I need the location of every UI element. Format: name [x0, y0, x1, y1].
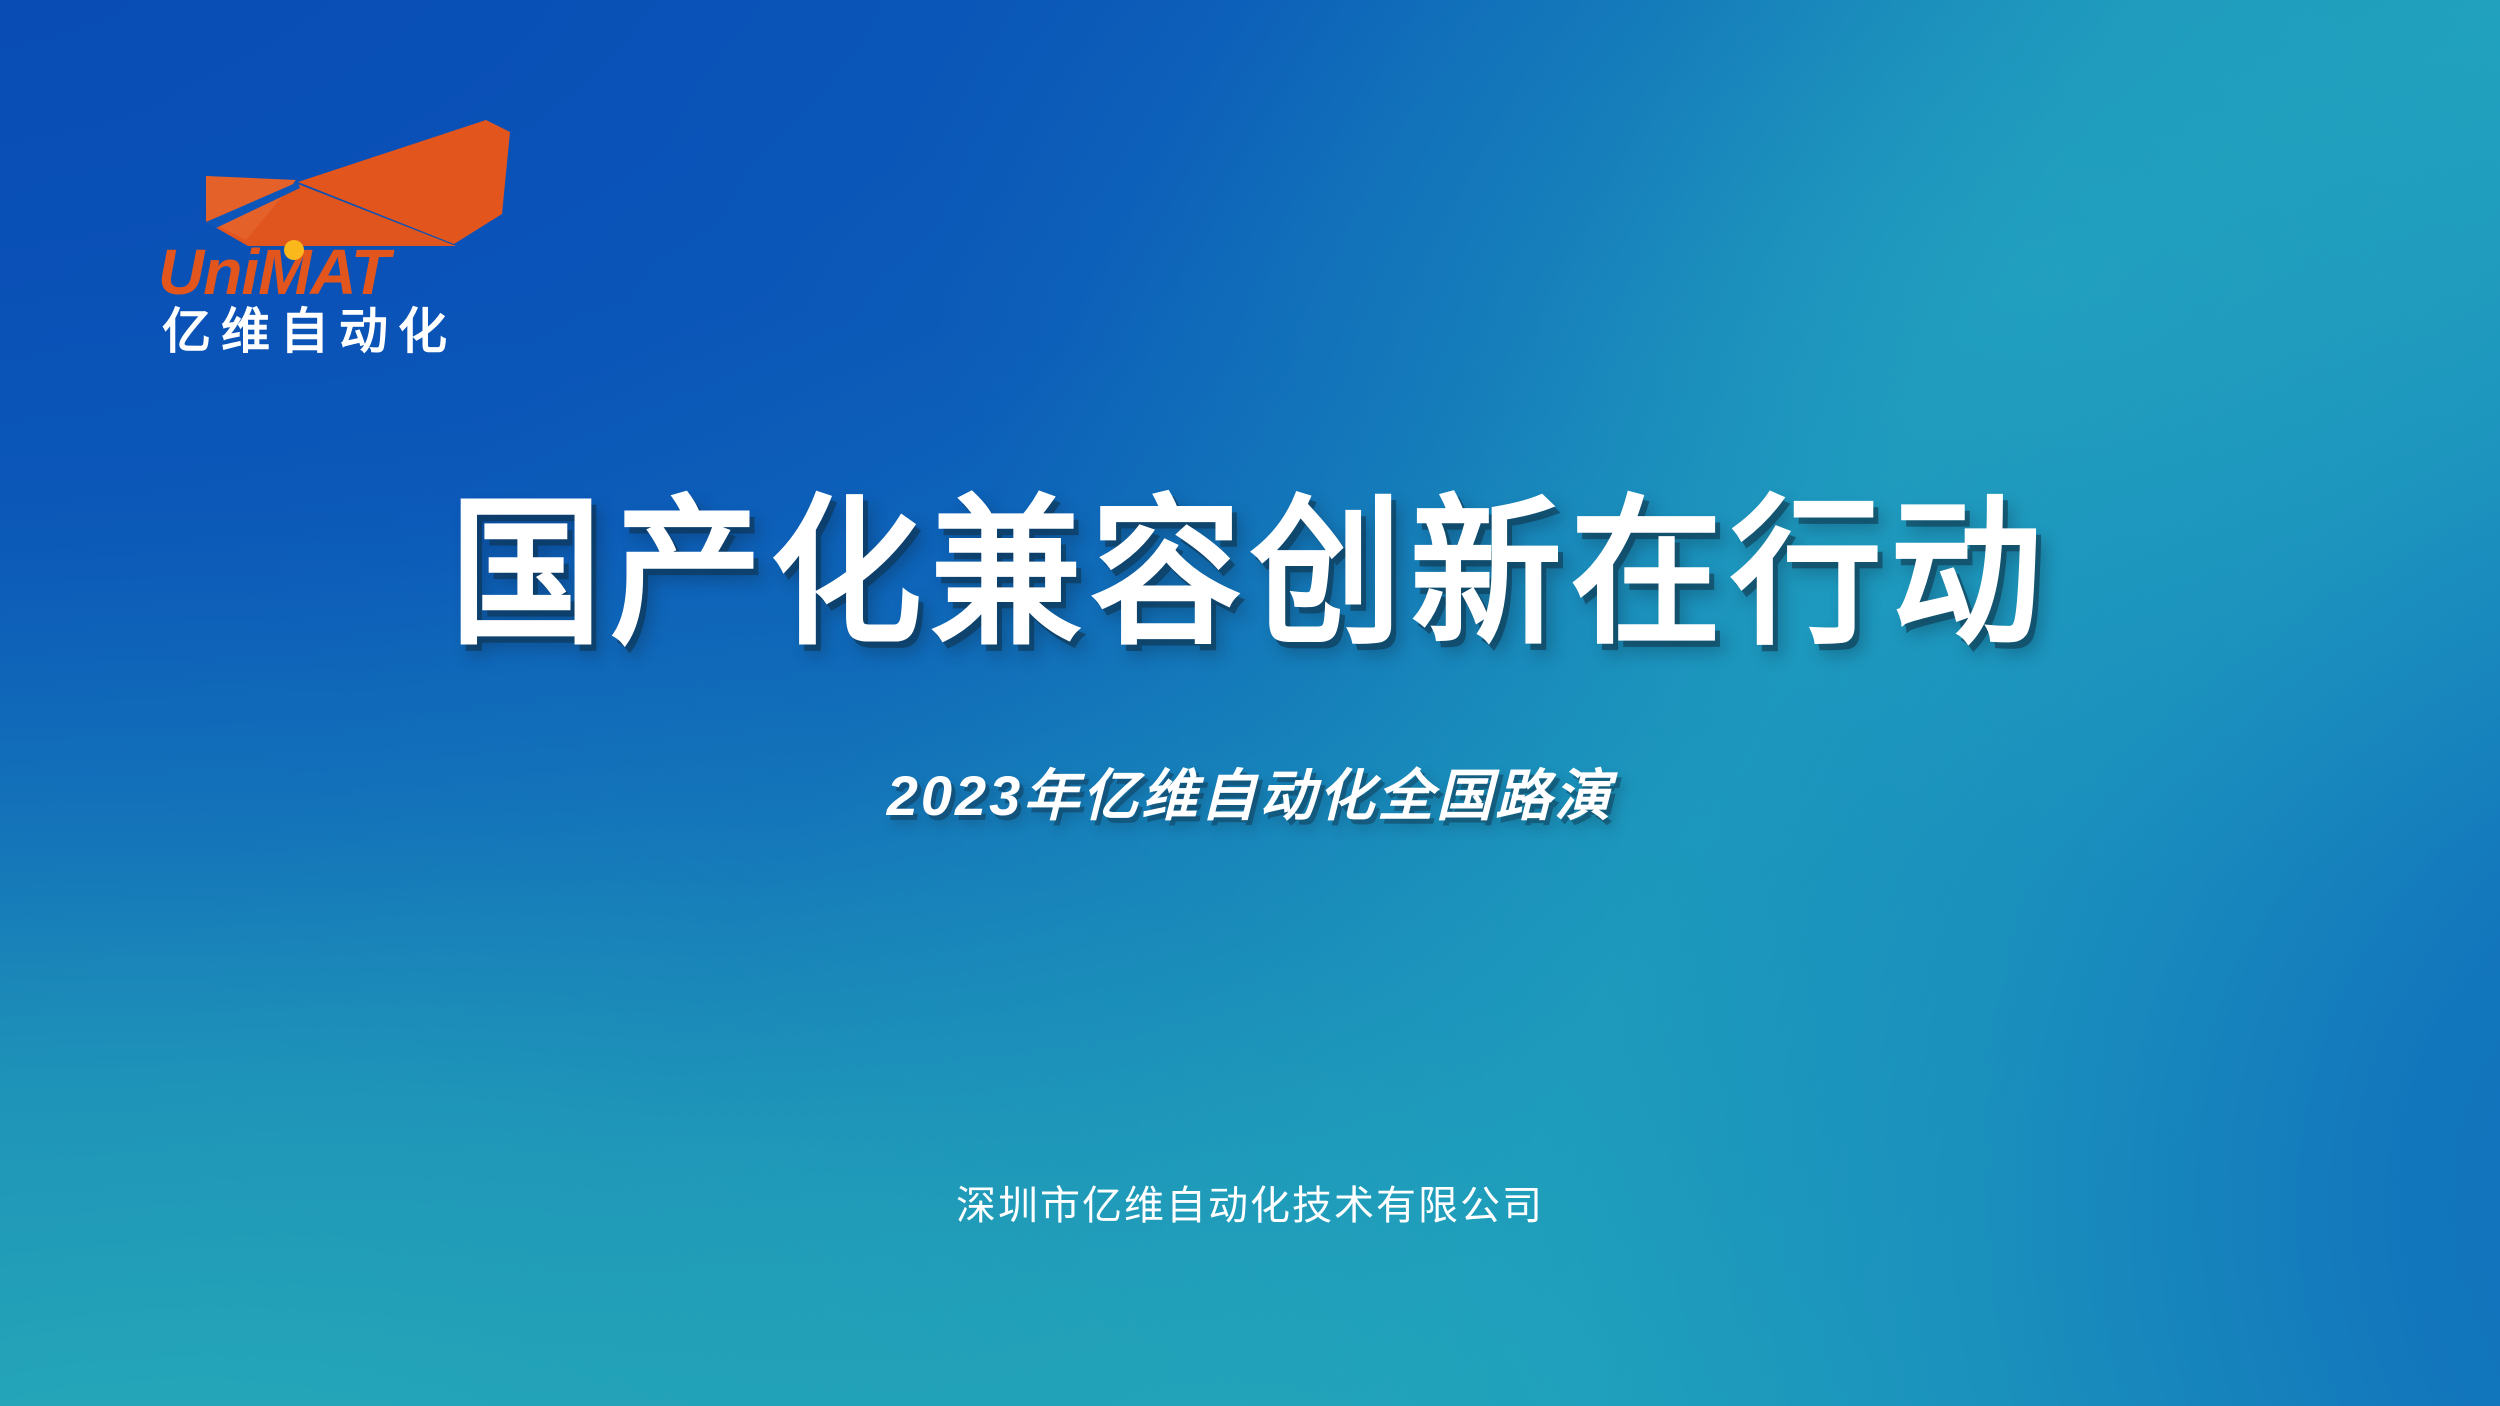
- logo-chinese-name: 亿维自动化: [162, 308, 457, 357]
- company-name-footer: 深圳市亿维自动化技术有限公司: [0, 1182, 2500, 1230]
- svg-text:UniMAT: UniMAT: [158, 236, 395, 308]
- title-slide: UniMAT 亿维自动化 国产化兼容创新在行动 2023年亿维自动化全国路演 深…: [0, 0, 2500, 1406]
- unimat-checkmark-swoosh-icon: [150, 118, 510, 248]
- page-subtitle: 2023年亿维自动化全国路演: [0, 765, 2500, 827]
- unimat-wordmark-icon: UniMAT: [158, 236, 508, 308]
- page-title: 国产化兼容创新在行动: [0, 487, 2500, 661]
- unimat-logo: UniMAT 亿维自动化: [150, 118, 510, 318]
